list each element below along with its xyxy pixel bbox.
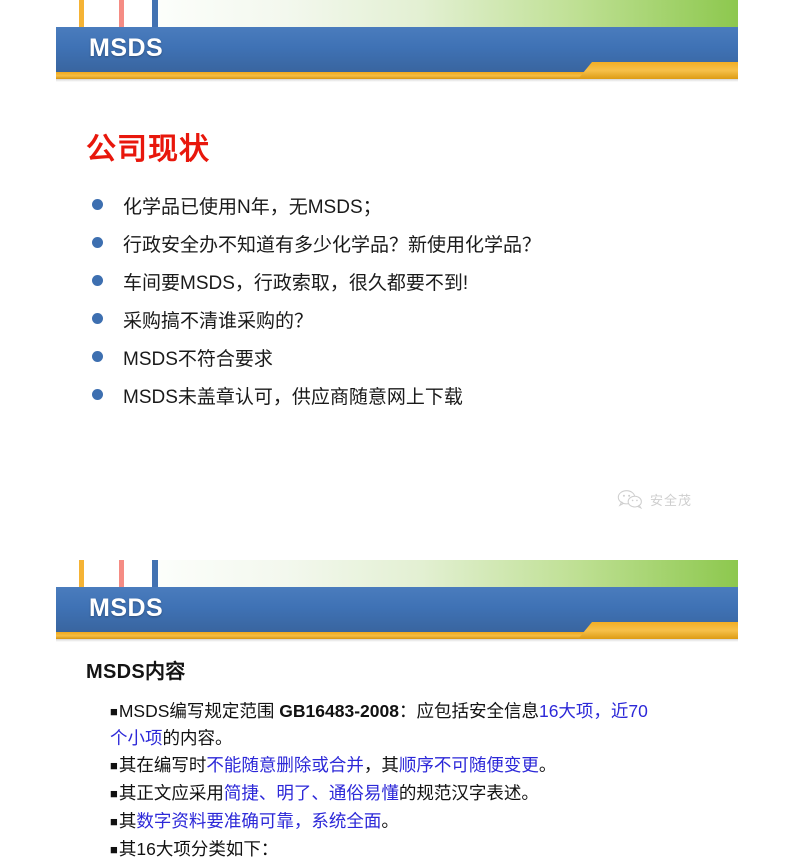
bullet-dot-icon [92, 237, 103, 248]
watermark: 安全茂 [617, 489, 692, 509]
slide-2-heading: MSDS内容 [86, 655, 186, 684]
text-run: MSDS编写规定范围 [119, 701, 279, 721]
slide-1-bullet-list: 化学品已使用N年，无MSDS； 行政安全办不知道有多少化学品？新使用化学品？ 车… [92, 192, 541, 420]
bullet-dot-icon [92, 313, 103, 324]
wechat-icon [617, 489, 643, 509]
orange-tick-mark [79, 560, 84, 587]
header-orange-wedge [578, 622, 738, 639]
square-bullet-icon: ■ [110, 842, 118, 857]
header-orange-wedge [578, 62, 738, 79]
list-item: 化学品已使用N年，无MSDS； [92, 192, 541, 230]
text-run: ，其 [364, 755, 399, 775]
green-gradient-bar [158, 560, 738, 587]
square-bullet-icon: ■ [110, 758, 118, 773]
header-top-strip [0, 0, 801, 27]
list-item-label: 采购搞不清谁采购的？ [123, 306, 313, 333]
text-run: 的规范汉字表述。 [399, 783, 539, 803]
text-run: 不能随意删除或合并 [206, 755, 364, 775]
paragraph: ■其16大项分类如下： [110, 836, 650, 863]
list-item-label: 行政安全办不知道有多少化学品？新使用化学品？ [123, 230, 541, 257]
header-drop-shadow [56, 79, 738, 82]
text-run: GB16483-2008 [279, 701, 399, 721]
green-gradient-bar [158, 0, 738, 27]
text-run: 其16大项分类如下： [119, 839, 278, 859]
slide-1-heading: 公司现状 [86, 124, 210, 168]
list-item: 车间要MSDS，行政索取，很久都要不到! [92, 268, 541, 306]
header-drop-shadow [56, 639, 738, 642]
text-run: 的内容。 [163, 728, 233, 748]
slide-1-header-title: MSDS [89, 34, 163, 63]
list-item: MSDS不符合要求 [92, 344, 541, 382]
bullet-dot-icon [92, 199, 103, 210]
text-run: 数字资料要准确可靠，系统全面 [136, 811, 381, 831]
list-item-label: MSDS不符合要求 [123, 344, 273, 371]
bullet-dot-icon [92, 351, 103, 362]
slide-1: MSDS 公司现状 化学品已使用N年，无MSDS； 行政安全办不知道有多少化学品… [0, 0, 801, 540]
text-run: 其在编写时 [119, 755, 207, 775]
list-item: MSDS未盖章认可，供应商随意网上下载 [92, 382, 541, 420]
paragraph: ■MSDS编写规定范围 GB16483-2008：应包括安全信息16大项，近70… [110, 698, 650, 751]
slide-2-header-title: MSDS [89, 594, 163, 623]
red-tick-mark [119, 0, 124, 27]
text-run: 。 [539, 755, 557, 775]
text-run: 。 [381, 811, 399, 831]
square-bullet-icon: ■ [110, 814, 118, 829]
text-run: 顺序不可随便变更 [399, 755, 539, 775]
square-bullet-icon: ■ [110, 704, 118, 719]
slide-1-header: MSDS [0, 0, 801, 80]
list-item-label: 车间要MSDS，行政索取，很久都要不到! [123, 268, 468, 295]
slide-2-paragraph-block: ■MSDS编写规定范围 GB16483-2008：应包括安全信息16大项，近70… [110, 698, 650, 864]
paragraph: ■其正文应采用简捷、明了、通俗易懂的规范汉字表述。 [110, 780, 650, 807]
text-run: 其 [119, 811, 137, 831]
text-run: 简捷、明了、通俗易懂 [224, 783, 399, 803]
bullet-dot-icon [92, 275, 103, 286]
list-item-label: 化学品已使用N年，无MSDS； [123, 192, 382, 219]
header-top-strip [0, 560, 801, 587]
bullet-dot-icon [92, 389, 103, 400]
list-item: 采购搞不清谁采购的？ [92, 306, 541, 344]
text-run: ：应包括安全信息 [399, 701, 539, 721]
text-run: 其正文应采用 [119, 783, 224, 803]
square-bullet-icon: ■ [110, 786, 118, 801]
list-item-label: MSDS未盖章认可，供应商随意网上下载 [123, 382, 463, 409]
list-item: 行政安全办不知道有多少化学品？新使用化学品？ [92, 230, 541, 268]
red-tick-mark [119, 560, 124, 587]
orange-tick-mark [79, 0, 84, 27]
paragraph: ■其在编写时不能随意删除或合并，其顺序不可随便变更。 [110, 752, 650, 779]
watermark-label: 安全茂 [650, 490, 692, 509]
paragraph: ■其数字资料要准确可靠，系统全面。 [110, 808, 650, 835]
slide-2-header: MSDS [0, 560, 801, 640]
